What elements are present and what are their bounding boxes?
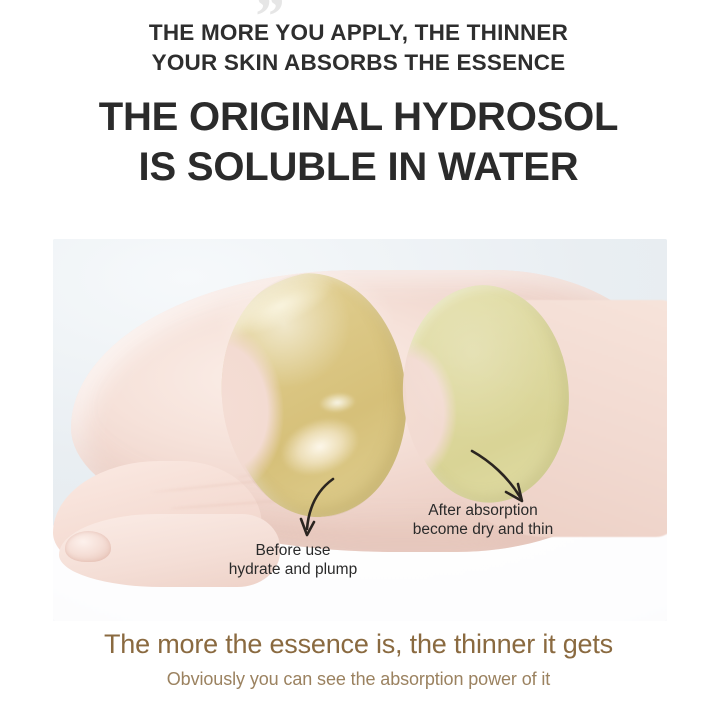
kicker-text: THE MORE YOU APPLY, THE THINNER YOUR SKI… bbox=[0, 18, 717, 77]
product-info-panel: ” THE MORE YOU APPLY, THE THINNER YOUR S… bbox=[0, 0, 717, 717]
demo-photo: Before use hydrate and plump After absor… bbox=[53, 239, 667, 621]
heading-block: THE MORE YOU APPLY, THE THINNER YOUR SKI… bbox=[0, 18, 717, 193]
caption-subline: Obviously you can see the absorption pow… bbox=[0, 669, 717, 691]
fingernail bbox=[65, 531, 111, 562]
page-title: THE ORIGINAL HYDROSOL IS SOLUBLE IN WATE… bbox=[0, 93, 717, 192]
caption-block: The more the essence is, the thinner it … bbox=[0, 628, 717, 691]
caption-headline: The more the essence is, the thinner it … bbox=[0, 628, 717, 660]
patch-highlight-small bbox=[318, 391, 357, 414]
patch-highlight bbox=[272, 408, 367, 486]
annotation-before-use: Before use hydrate and plump bbox=[203, 542, 383, 580]
annotation-after-absorption: After absorption become dry and thin bbox=[383, 502, 583, 540]
